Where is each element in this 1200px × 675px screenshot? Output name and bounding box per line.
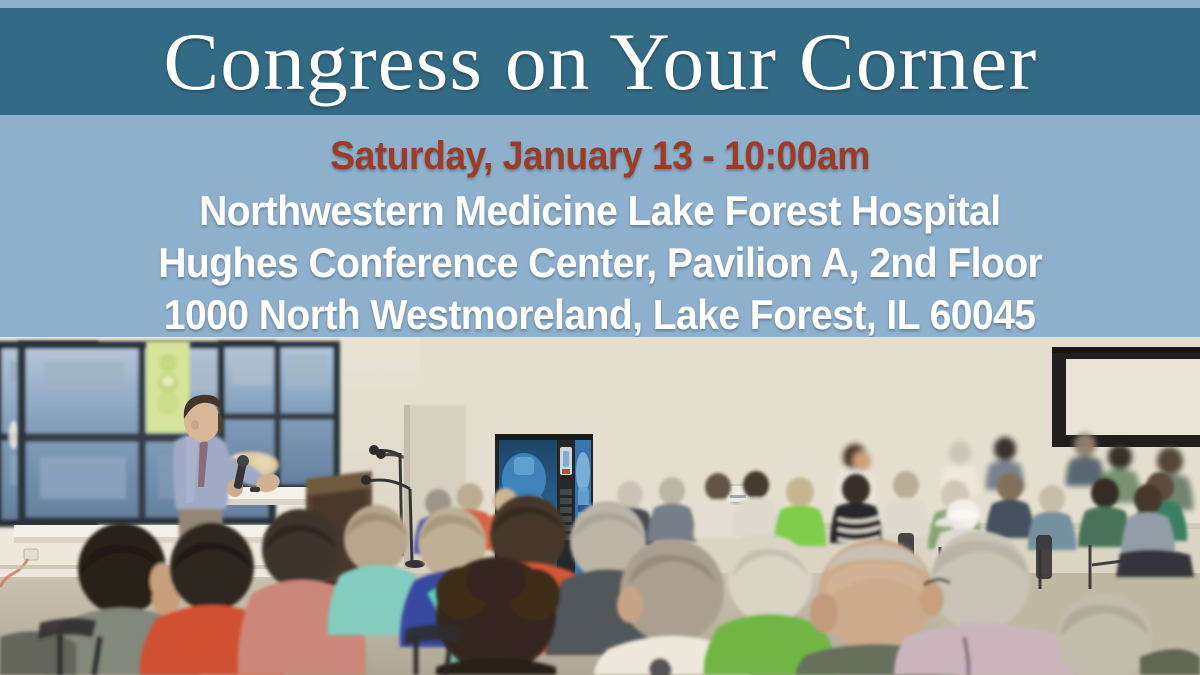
venue-address: 1000 North Westmoreland, Lake Forest, IL…	[164, 289, 1036, 341]
venue-room: Hughes Conference Center, Pavilion A, 2n…	[158, 237, 1042, 289]
event-details-band: Saturday, January 13 - 10:00am Northwest…	[0, 115, 1200, 337]
title-band: Congress on Your Corner	[0, 8, 1200, 115]
event-poster: Congress on Your Corner Saturday, Januar…	[0, 0, 1200, 675]
event-date-time: Saturday, January 13 - 10:00am	[330, 131, 870, 181]
photo-illustration: AQUAFINA	[0, 337, 1200, 675]
town-hall-meeting-photo: AQUAFINA	[0, 337, 1200, 675]
venue-name: Northwestern Medicine Lake Forest Hospit…	[199, 185, 1000, 237]
top-accent-strip	[0, 0, 1200, 8]
page-title: Congress on Your Corner	[163, 20, 1037, 104]
